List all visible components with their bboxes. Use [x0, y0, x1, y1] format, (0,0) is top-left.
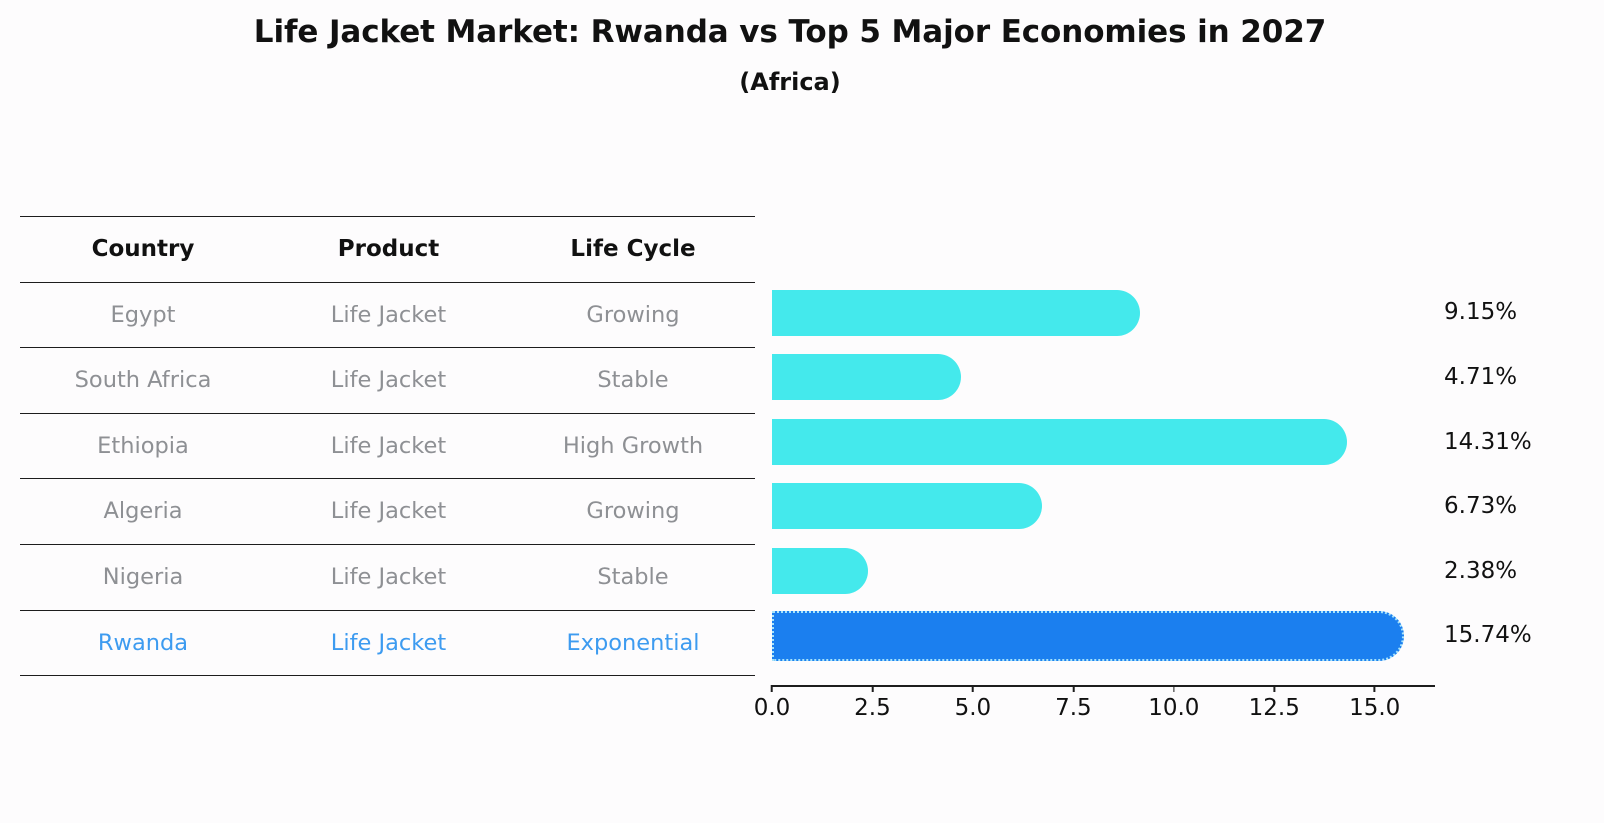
cell-product: Life Jacket	[266, 566, 511, 589]
cell-life-cycle: High Growth	[511, 435, 755, 458]
x-tick-label: 12.5	[1249, 697, 1300, 720]
x-tick: 7.5	[1055, 685, 1092, 720]
cell-country: Nigeria	[20, 566, 266, 589]
cell-life-cycle: Exponential	[511, 632, 755, 655]
bar-lane	[772, 539, 1435, 604]
column-header-country: Country	[20, 238, 266, 261]
value-label-egypt: 9.15%	[1444, 281, 1594, 346]
column-header-product: Product	[266, 238, 511, 261]
cell-life-cycle: Growing	[511, 304, 755, 327]
value-label-nigeria: 2.38%	[1444, 539, 1594, 604]
cell-product: Life Jacket	[266, 304, 511, 327]
bar-lane	[772, 281, 1435, 346]
tick-mark	[1072, 685, 1074, 692]
x-axis: 0.0 2.5 5.0 7.5 10.0 12.5 15.0	[772, 685, 1435, 735]
cell-country: Ethiopia	[20, 435, 266, 458]
cell-life-cycle: Stable	[511, 369, 755, 392]
bar-lane	[772, 474, 1435, 539]
value-label-ethiopia: 14.31%	[1444, 410, 1594, 475]
table-row[interactable]: South Africa Life Jacket Stable	[20, 347, 755, 413]
cell-country: South Africa	[20, 369, 266, 392]
column-header-life-cycle: Life Cycle	[511, 238, 755, 261]
cell-product: Life Jacket	[266, 435, 511, 458]
value-label-rwanda: 15.74%	[1444, 604, 1594, 669]
x-tick: 0.0	[754, 685, 791, 720]
x-tick: 2.5	[854, 685, 891, 720]
plot-area	[772, 281, 1435, 669]
value-label-column: 9.15% 4.71% 14.31% 6.73% 2.38% 15.74%	[1444, 281, 1594, 669]
cell-country: Rwanda	[20, 632, 266, 655]
cell-product: Life Jacket	[266, 369, 511, 392]
bar-lane	[772, 345, 1435, 410]
cell-country: Algeria	[20, 500, 266, 523]
tick-mark	[1173, 685, 1175, 692]
bar-egypt[interactable]	[772, 290, 1140, 336]
x-tick: 12.5	[1249, 685, 1300, 720]
table-row[interactable]: Nigeria Life Jacket Stable	[20, 544, 755, 610]
table-row-highlighted[interactable]: Rwanda Life Jacket Exponential	[20, 610, 755, 677]
bar-ethiopia[interactable]	[772, 419, 1347, 465]
table-header-row: Country Product Life Cycle	[20, 216, 755, 282]
bar-rwanda[interactable]	[772, 611, 1404, 661]
cell-country: Egypt	[20, 304, 266, 327]
x-tick: 5.0	[955, 685, 992, 720]
page-title: Life Jacket Market: Rwanda vs Top 5 Majo…	[0, 14, 1580, 52]
x-tick-label: 0.0	[754, 697, 791, 720]
value-label-south-africa: 4.71%	[1444, 345, 1594, 410]
tick-mark	[1273, 685, 1275, 692]
bar-south-africa[interactable]	[772, 354, 961, 400]
bar-nigeria[interactable]	[772, 548, 868, 594]
cell-product: Life Jacket	[266, 500, 511, 523]
table-row[interactable]: Egypt Life Jacket Growing	[20, 282, 755, 348]
tick-mark	[872, 685, 874, 692]
table-row[interactable]: Algeria Life Jacket Growing	[20, 478, 755, 544]
table-row[interactable]: Ethiopia Life Jacket High Growth	[20, 413, 755, 479]
x-tick-label: 10.0	[1148, 697, 1199, 720]
x-tick-label: 15.0	[1349, 697, 1400, 720]
cell-life-cycle: Growing	[511, 500, 755, 523]
bar-algeria[interactable]	[772, 483, 1042, 529]
bar-chart	[772, 216, 1435, 686]
x-tick-label: 5.0	[955, 697, 992, 720]
x-tick-label: 7.5	[1055, 697, 1092, 720]
bar-lane	[772, 410, 1435, 475]
x-tick-label: 2.5	[854, 697, 891, 720]
x-tick: 15.0	[1349, 685, 1400, 720]
page-subtitle: (Africa)	[0, 68, 1580, 97]
tick-mark	[771, 685, 773, 692]
cell-life-cycle: Stable	[511, 566, 755, 589]
bar-lane	[772, 604, 1435, 669]
country-table: Country Product Life Cycle Egypt Life Ja…	[20, 216, 755, 676]
value-label-algeria: 6.73%	[1444, 474, 1594, 539]
title-block: Life Jacket Market: Rwanda vs Top 5 Majo…	[0, 14, 1580, 97]
cell-product: Life Jacket	[266, 632, 511, 655]
tick-mark	[1374, 685, 1376, 692]
x-tick: 10.0	[1148, 685, 1199, 720]
tick-mark	[972, 685, 974, 692]
